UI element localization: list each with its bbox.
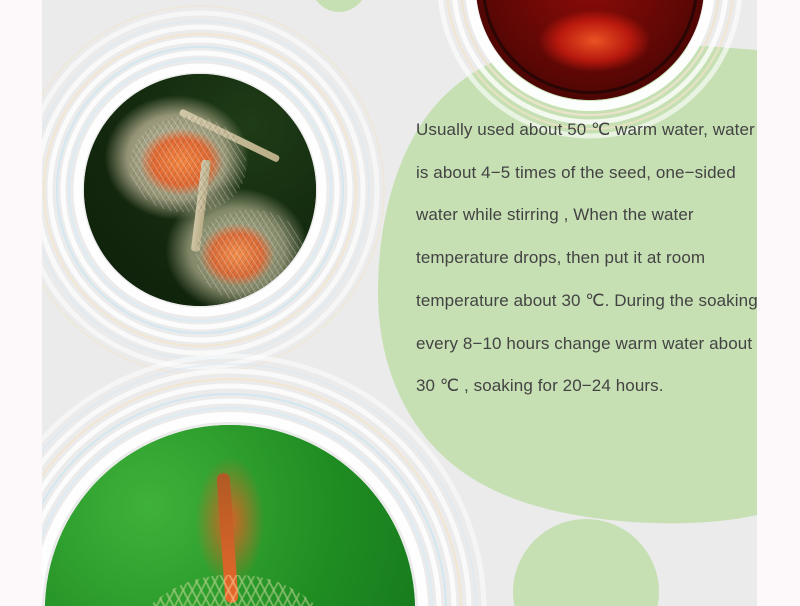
instruction-line: every 8−10 hours change warm water about: [416, 323, 766, 366]
physalis-lantern-closeup-photo: [45, 425, 415, 606]
physalis-lantern-image: [45, 425, 415, 606]
instruction-line: temperature about 30 ℃. During the soaki…: [416, 280, 766, 323]
husk-netting-texture: [115, 575, 351, 606]
husk-netting-texture: [196, 210, 304, 302]
husk-netting-texture: [130, 116, 246, 212]
physalis-red-berry-photo: [476, 0, 704, 100]
instruction-line: Usually used about 50 ℃ warm water, wate…: [416, 109, 766, 152]
photo-inner-rim: [482, 0, 698, 94]
soaking-instructions-text: Usually used about 50 ℃ warm water, wate…: [416, 109, 766, 408]
physalis-husk-pair-image: [84, 74, 316, 306]
left-margin-strip: [0, 0, 42, 606]
physalis-husk-pair-photo: [84, 74, 316, 306]
instruction-line: is about 4−5 times of the seed, one−side…: [416, 152, 766, 195]
physalis-red-berry-image: [476, 0, 704, 100]
instruction-line: temperature drops, then put it at room: [416, 237, 766, 280]
instruction-line: 30 ℃ , soaking for 20−24 hours.: [416, 365, 766, 408]
instruction-line: water while stirring , When the water: [416, 194, 766, 237]
product-detail-banner: Usually used about 50 ℃ warm water, wate…: [0, 0, 800, 606]
